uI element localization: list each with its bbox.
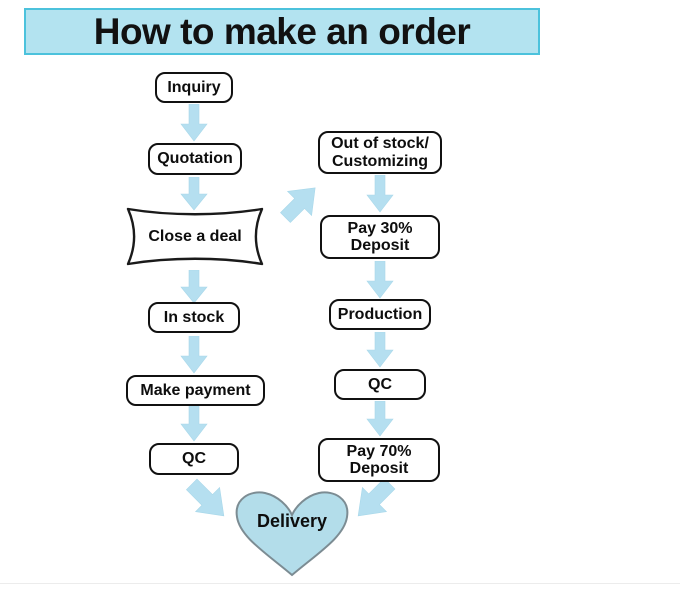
node-pay-70-deposit-label-line2: Deposit [350,460,409,477]
node-pay-30-deposit[interactable]: Pay 30% Deposit [320,215,440,259]
node-quotation[interactable]: Quotation [148,143,242,175]
arrow-production-to-qc-right [366,332,394,368]
arrow-in-stock-to-make-payment [180,336,208,374]
page-title: How to make an order [94,13,471,50]
node-pay-30-deposit-label-line2: Deposit [351,237,410,254]
node-close-a-deal[interactable]: Close a deal [120,205,270,268]
page-title-banner: How to make an order [24,8,540,55]
flowchart-canvas: How to make an order [0,0,680,593]
arrow-pay-70-deposit-to-delivery [347,477,399,525]
node-qc-left[interactable]: QC [149,443,239,475]
node-out-of-stock-label-line1: Out of stock/ [331,135,429,152]
node-production-label: Production [338,306,422,324]
arrow-make-payment-to-qc-left [180,406,208,442]
arrow-qc-left-to-delivery [183,477,235,525]
node-make-payment[interactable]: Make payment [126,375,265,406]
arrow-inquiry-to-quotation [180,104,208,142]
node-out-of-stock[interactable]: Out of stock/ Customizing [318,131,442,174]
node-in-stock-label: In stock [164,309,224,327]
node-qc-left-label: QC [182,450,206,468]
heart-icon [232,489,352,577]
node-make-payment-label: Make payment [140,382,250,400]
arrow-pay-30-deposit-to-production [366,261,394,299]
node-pay-70-deposit[interactable]: Pay 70% Deposit [318,438,440,482]
arrow-qc-right-to-pay-70-deposit [366,401,394,437]
arrow-close-a-deal-to-in-stock [180,270,208,304]
footer-divider [0,583,680,584]
arrow-out-of-stock-to-pay-30-deposit [366,175,394,213]
node-inquiry[interactable]: Inquiry [155,72,233,103]
node-close-a-deal-label: Close a deal [120,205,270,268]
node-quotation-label: Quotation [157,150,233,168]
node-out-of-stock-label-line2: Customizing [332,153,428,170]
node-delivery-label: Delivery [232,511,352,532]
node-delivery[interactable]: Delivery [232,489,352,577]
arrow-close-a-deal-to-out-of-stock [278,178,324,226]
node-inquiry-label: Inquiry [167,79,220,97]
node-in-stock[interactable]: In stock [148,302,240,333]
node-pay-70-deposit-label-line1: Pay 70% [347,443,412,460]
node-pay-30-deposit-label-line1: Pay 30% [348,220,413,237]
node-qc-right[interactable]: QC [334,369,426,400]
node-production[interactable]: Production [329,299,431,330]
node-qc-right-label: QC [368,376,392,394]
